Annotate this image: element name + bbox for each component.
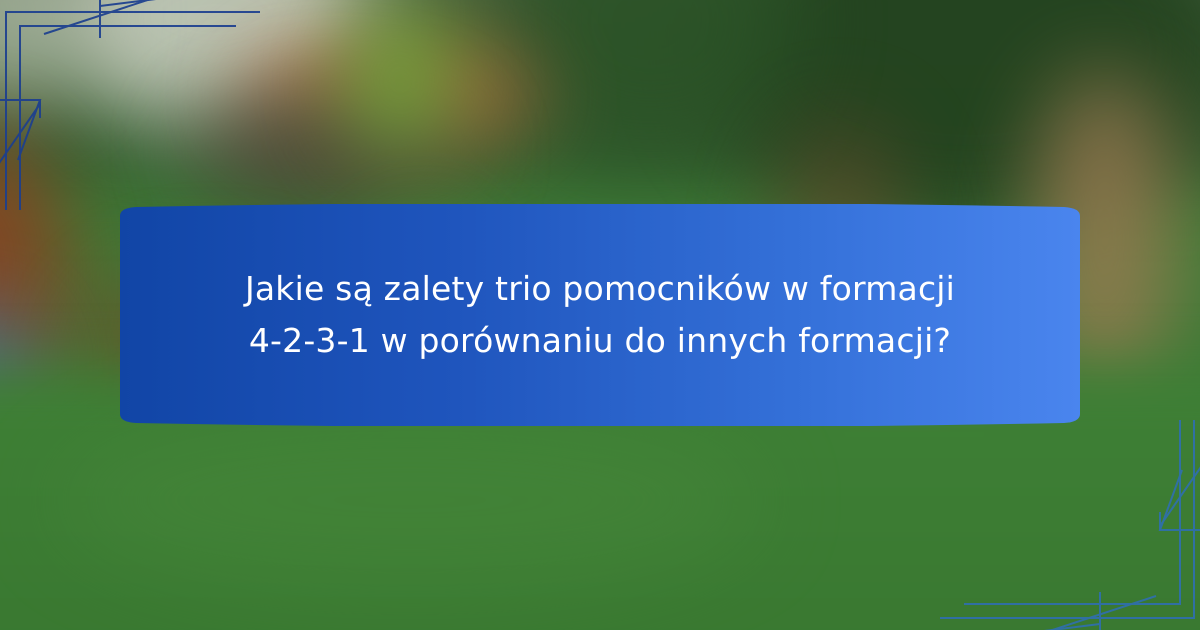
background-grass-sheen: [60, 410, 760, 590]
question-text: Jakie są zalety trio pomocników w formac…: [100, 204, 1100, 426]
question-line-2: 4-2-3-1 w porównaniu do innych formacji?: [249, 315, 951, 367]
question-line-1: Jakie są zalety trio pomocników w formac…: [245, 263, 955, 315]
share-card: Jakie są zalety trio pomocników w formac…: [0, 0, 1200, 630]
background-leaf-accent: [340, 0, 460, 160]
question-banner: Jakie są zalety trio pomocników w formac…: [100, 204, 1100, 426]
